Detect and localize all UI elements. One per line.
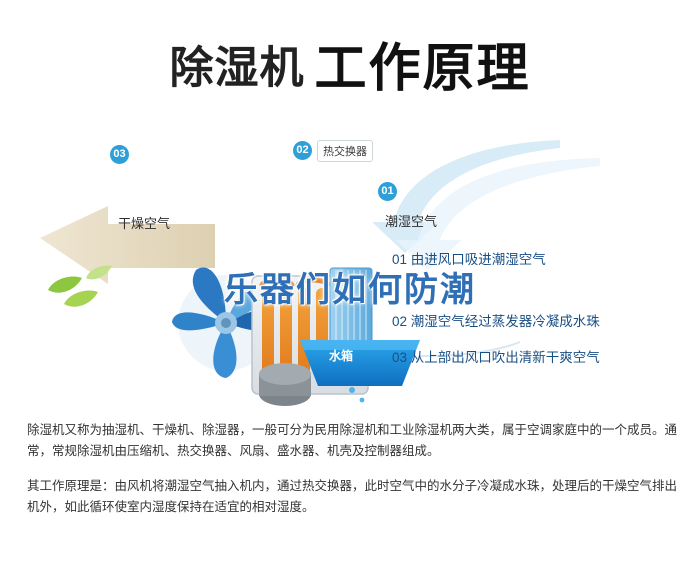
- watermark-headline: 乐器们如何防潮: [0, 262, 700, 311]
- step-02: 02 潮湿空气经过蒸发器冷凝成水珠: [392, 310, 600, 330]
- water-tank-label: 水箱: [329, 347, 353, 364]
- page-root: 除湿机工作原理: [0, 0, 700, 566]
- article-body: 除湿机又称为抽湿机、干燥机、除湿器，一般可分为民用除湿机和工业除湿机两大类，属于…: [27, 420, 677, 518]
- badge-02: 02: [293, 141, 312, 160]
- dry-air-label: 干燥空气: [118, 213, 170, 232]
- step-03: 03 从上部出风口吹出清新干爽空气: [392, 346, 600, 366]
- badge-01: 01: [378, 182, 397, 201]
- badge-03: 03: [110, 145, 129, 164]
- heat-exchanger-tag: 热交换器: [317, 140, 373, 162]
- body-paragraph-2: 其工作原理是：由风机将潮湿空气抽入机内，通过热交换器，此时空气中的水分子冷凝成水…: [27, 476, 677, 518]
- body-paragraph-1: 除湿机又称为抽湿机、干燥机、除湿器，一般可分为民用除湿机和工业除湿机两大类，属于…: [27, 420, 677, 462]
- page-title-part1: 除湿机: [169, 44, 304, 93]
- page-title: 除湿机工作原理: [0, 26, 700, 101]
- page-title-part2: 工作原理: [314, 40, 530, 98]
- humid-air-label: 潮湿空气: [385, 211, 437, 230]
